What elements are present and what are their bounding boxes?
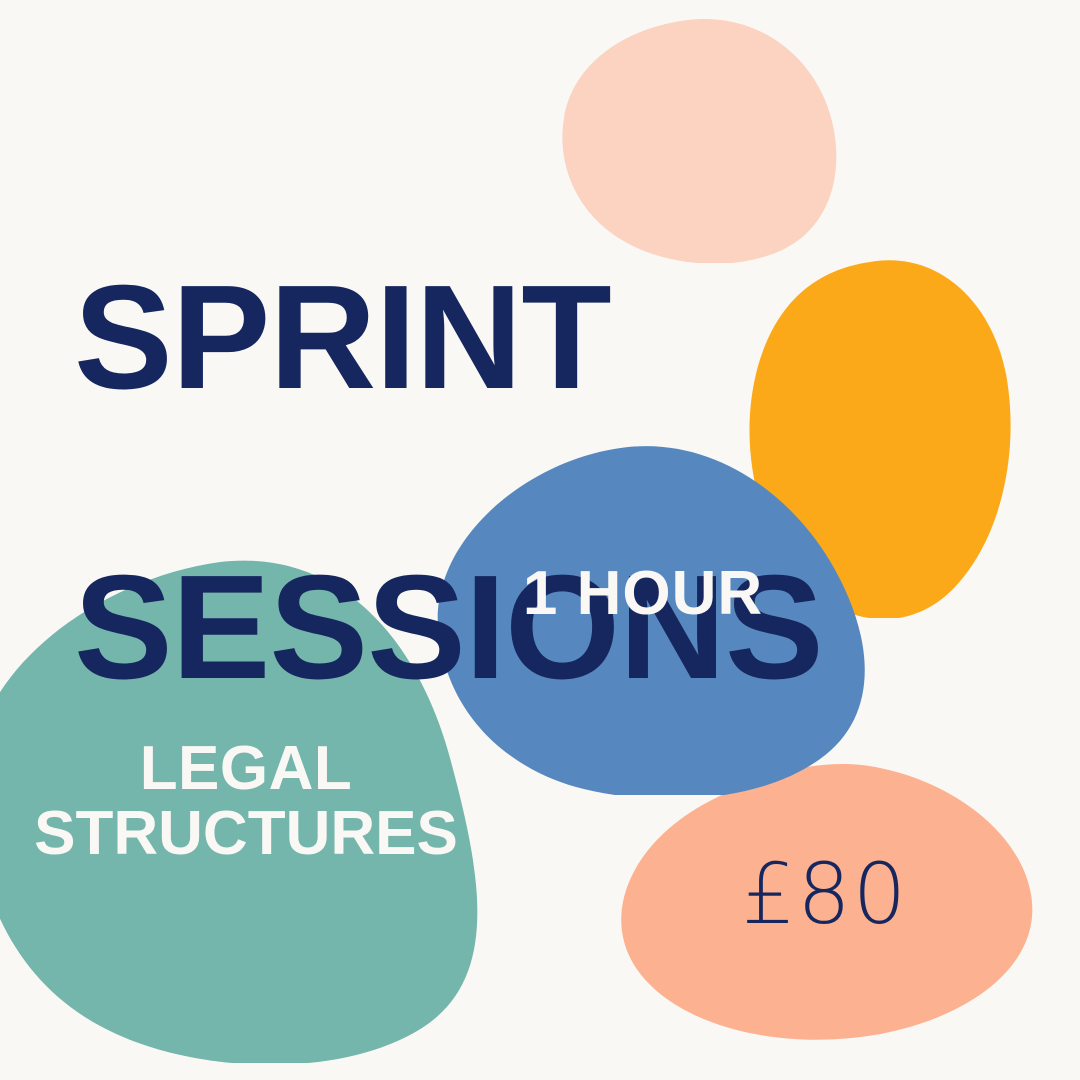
price-badge-label: £80 (630, 852, 1020, 938)
duration-badge-text: 1 HOUR (523, 559, 763, 628)
topic-badge-label: LEGAL STRUCTURES (0, 736, 506, 866)
topic-badge-line-1: LEGAL (0, 736, 506, 801)
price-badge-text: £80 (742, 845, 908, 943)
topic-badge-line-2: STRUCTURES (0, 801, 506, 866)
pink-blob-shape (560, 18, 840, 263)
poster-canvas: SPRINT SESSIONS 1 HOUR LEGAL STRUCTURES … (0, 0, 1080, 1080)
duration-badge-label: 1 HOUR (443, 562, 843, 625)
